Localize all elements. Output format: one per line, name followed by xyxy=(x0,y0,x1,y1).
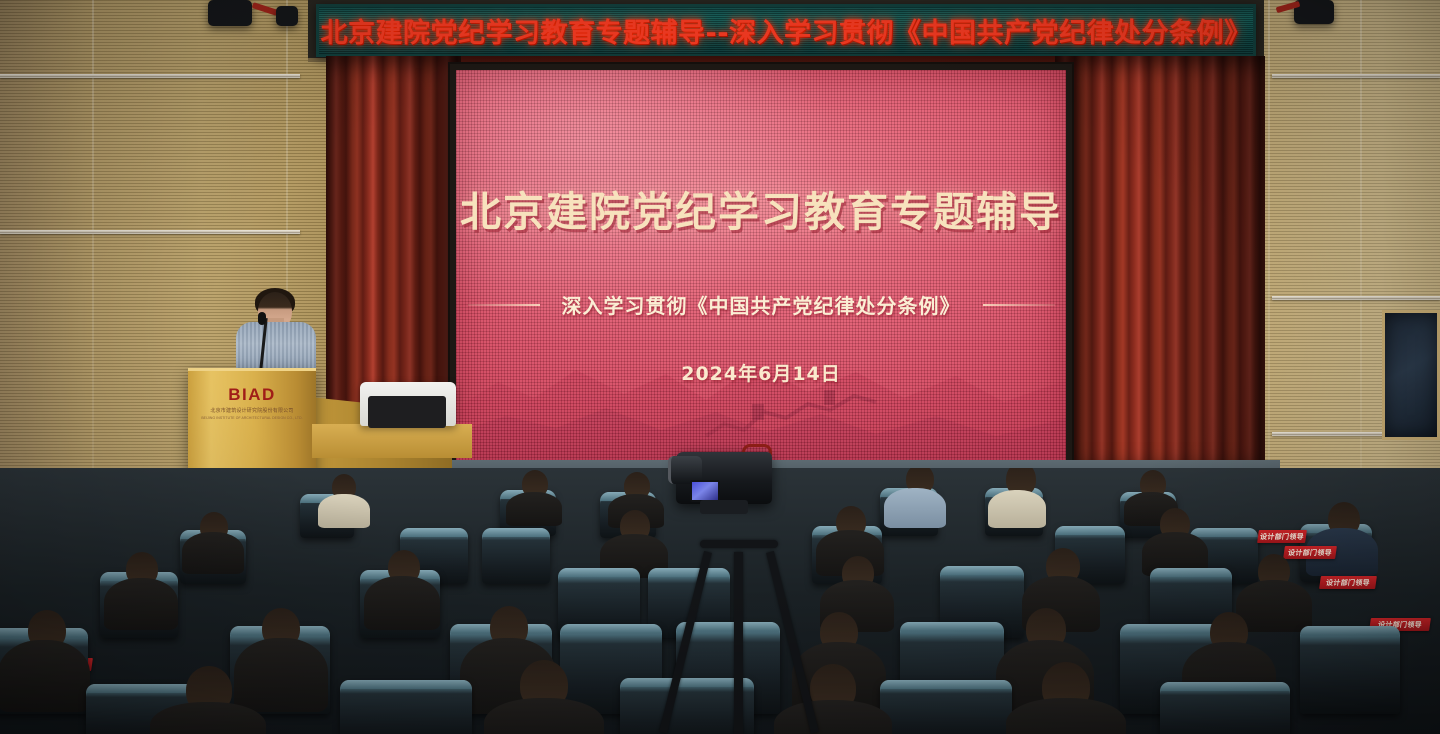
subtitle-rule-left xyxy=(468,304,540,306)
wall-trim-strip xyxy=(0,74,300,78)
auditorium-scene: 北京建院党纪学习教育专题辅导--深入学习贯彻《中国共产党纪律处分条例》 北京建院… xyxy=(0,0,1440,734)
stage-spotlight xyxy=(1294,0,1334,24)
presentation-led-screen[interactable]: 北京建院党纪学习教育专题辅导 深入学习贯彻《中国共产党纪律处分条例》 2024年… xyxy=(456,70,1066,462)
seat[interactable] xyxy=(340,680,472,734)
attendee-body xyxy=(104,578,178,630)
attendee-body xyxy=(884,488,946,528)
led-header-banner: 北京建院党纪学习教育专题辅导--深入学习贯彻《中国共产党纪律处分条例》 xyxy=(316,4,1256,57)
seat-tag: 设计部门领导 xyxy=(1283,546,1337,559)
stage-curtain-right xyxy=(1055,56,1265,460)
subtitle-rule-right xyxy=(983,304,1055,306)
seat-tag-label: 设计部门领导 xyxy=(1325,578,1370,588)
stage-spotlight xyxy=(208,0,252,26)
attendee-body xyxy=(988,490,1046,528)
camera-lcd-screen xyxy=(690,480,720,502)
stage-spotlight xyxy=(276,6,298,26)
tripod-leg xyxy=(734,552,743,734)
seat-tag: 设计部门领导 xyxy=(1257,530,1307,543)
seat[interactable] xyxy=(1160,682,1290,734)
wall-trim-strip xyxy=(1272,74,1440,78)
banner-title-text: 北京建院党纪学习教育专题辅导--深入学习贯彻《中国共产党纪律处分条例》 xyxy=(321,11,1252,50)
seat-tag-label: 设计部门领导 xyxy=(1259,532,1304,542)
microphone-icon xyxy=(258,312,266,325)
seat[interactable] xyxy=(880,680,1012,734)
seat[interactable] xyxy=(1300,626,1400,714)
attendee-body xyxy=(318,494,370,528)
company-name-cn: 北京市建筑设计研究院股份有限公司 xyxy=(188,408,316,416)
attendee-body xyxy=(234,638,328,712)
biad-logo-text: BIAD xyxy=(188,385,316,405)
company-name-en: BEIJING INSTITUTE OF ARCHITECTURAL DESIG… xyxy=(188,416,316,420)
stage-table-front xyxy=(312,424,472,458)
camera-tripod-mount xyxy=(700,500,748,514)
attendee-body xyxy=(182,532,244,574)
screen-subtitle: 深入学习贯彻《中国共产党纪律处分条例》 xyxy=(562,290,961,319)
podium-logo: BIAD 北京市建筑设计研究院股份有限公司 BEIJING INSTITUTE … xyxy=(188,385,316,420)
seat[interactable] xyxy=(482,528,550,584)
tripod-head xyxy=(700,540,778,548)
wall-trim-strip xyxy=(0,230,300,234)
attendee-body xyxy=(0,640,90,712)
screen-date: 2024年6月14日 xyxy=(681,359,841,386)
attendee-body xyxy=(1236,580,1312,632)
wall-trim-strip xyxy=(1272,296,1440,300)
screen-subtitle-row: 深入学习贯彻《中国共产党纪律处分条例》 xyxy=(468,290,1055,319)
wall-framed-panel xyxy=(1382,310,1440,440)
seat-tag-label: 设计部门领导 xyxy=(1287,548,1332,558)
attendee-body xyxy=(364,576,440,630)
attendee-body xyxy=(1006,698,1126,734)
lectern-monitor-screen xyxy=(368,396,446,428)
attendee-body xyxy=(506,492,562,526)
seat-tag: 设计部门领导 xyxy=(1319,576,1377,589)
screen-main-title: 北京建院党纪学习教育专题辅导 xyxy=(460,178,1062,238)
